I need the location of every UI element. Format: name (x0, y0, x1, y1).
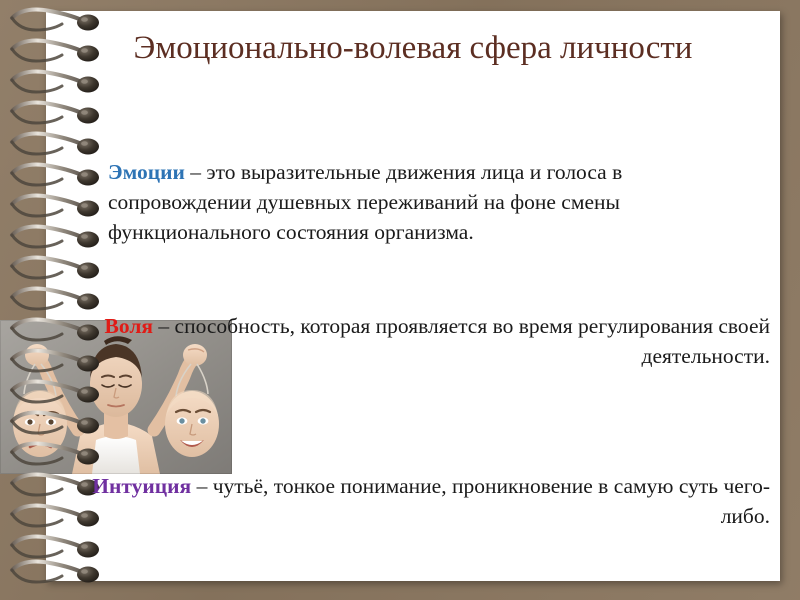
keyword-emotions: Эмоции (108, 160, 185, 184)
paragraph-intuition-body: – чутьё, тонкое понимание, проникновение… (191, 474, 770, 528)
paragraph-emotions: Эмоции – это выразительные движения лица… (108, 157, 770, 247)
paragraph-emotions-body: – это выразительные движения лица и голо… (108, 160, 622, 244)
slide: Эмоционально-волевая сфера личности Эмоц… (0, 0, 800, 600)
page-title: Эмоционально-волевая сфера личности (56, 27, 770, 70)
slide-content: Эмоционально-волевая сфера личности Эмоц… (46, 11, 780, 581)
paragraph-will: Воля – способность, которая проявляется … (66, 311, 770, 371)
paragraph-intuition: Интуиция – чутьё, тонкое понимание, прон… (66, 471, 770, 531)
keyword-will: Воля (105, 314, 154, 338)
keyword-intuition: Интуиция (92, 474, 191, 498)
paragraph-will-body: – способность, которая проявляется во вр… (153, 314, 770, 368)
